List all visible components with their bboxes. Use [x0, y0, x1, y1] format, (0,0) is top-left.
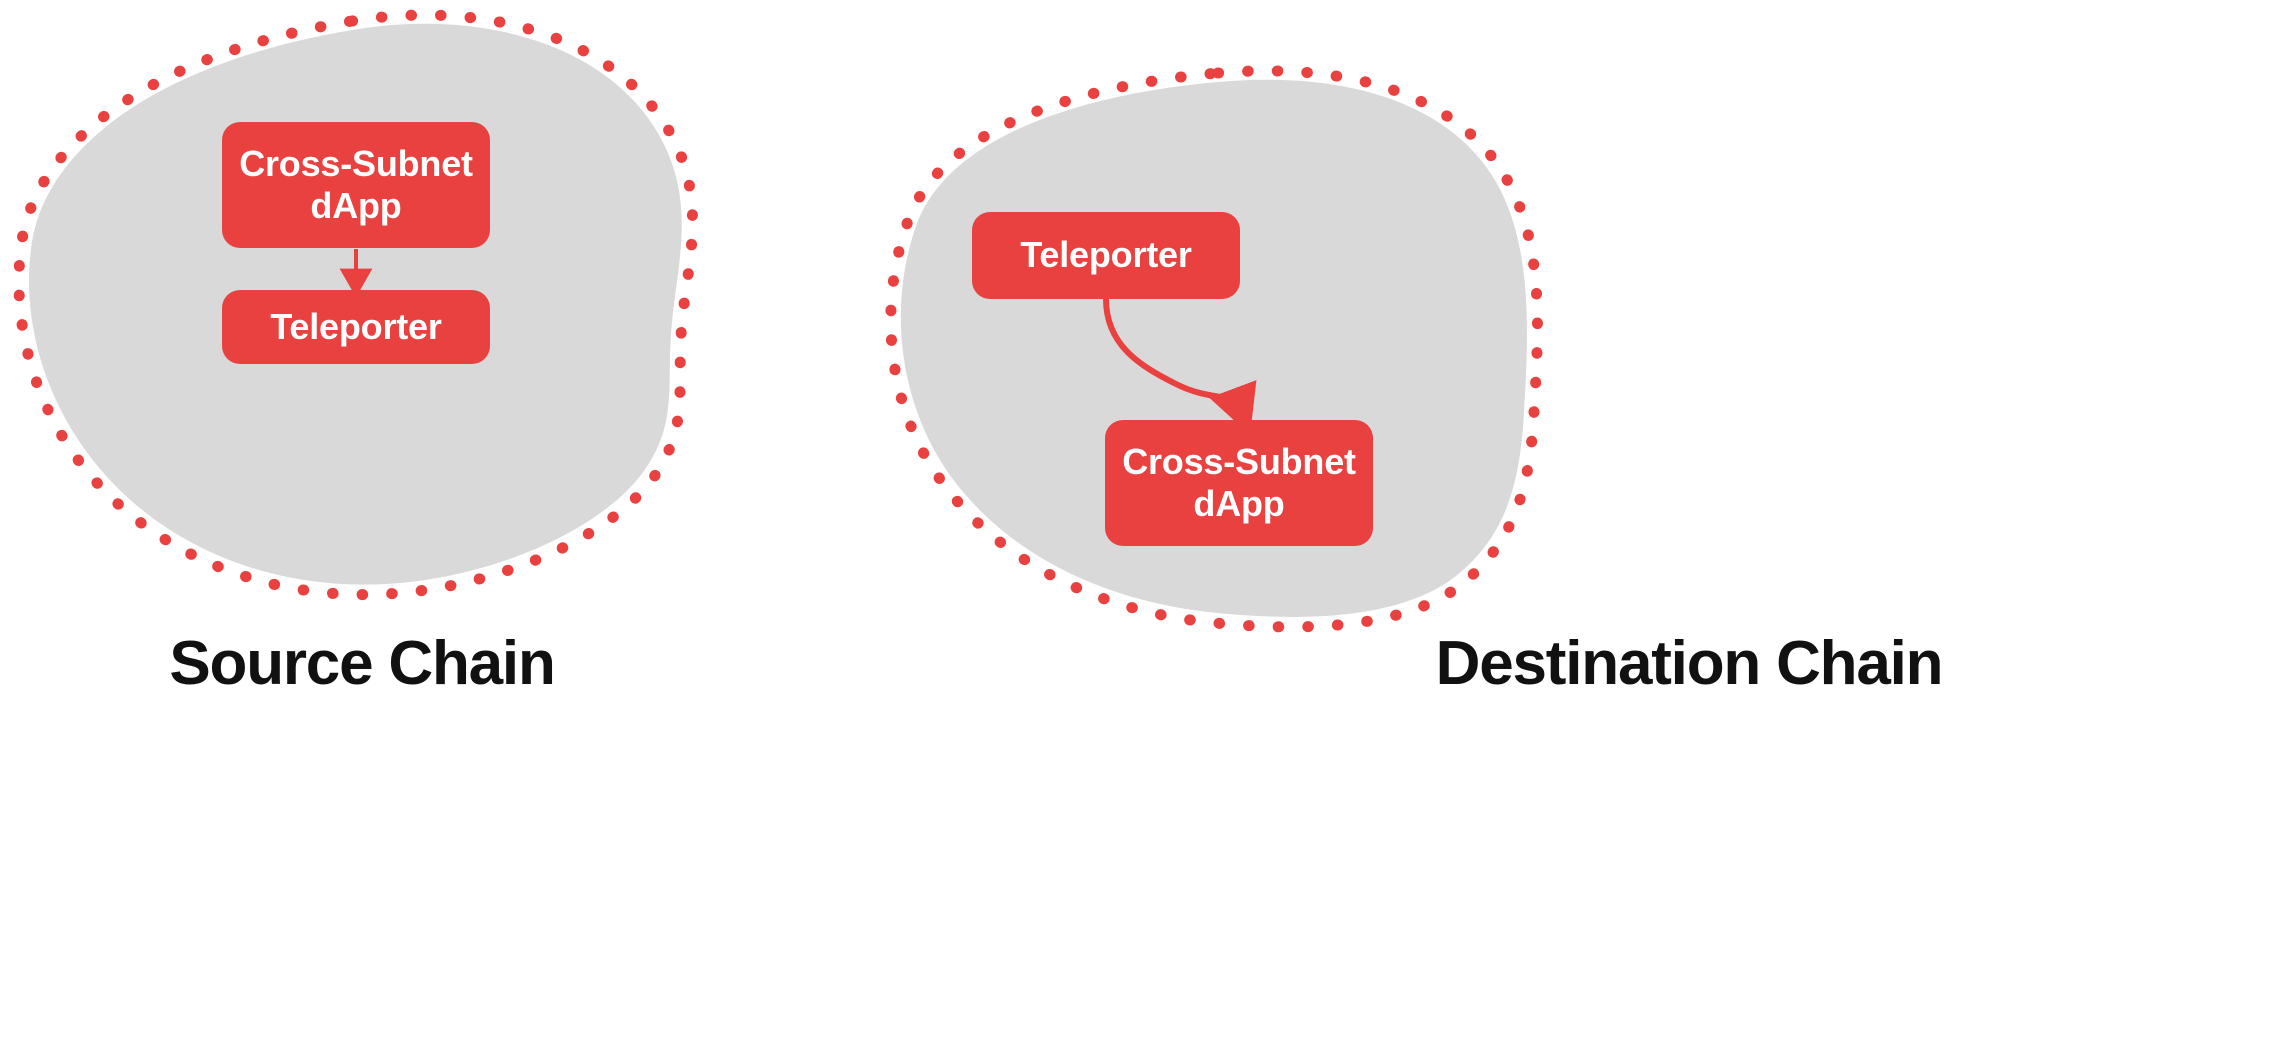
node-destination-teleporter[interactable]: Teleporter: [972, 212, 1240, 299]
destination-chain-caption: Destination Chain: [1086, 628, 2292, 699]
diagram-canvas: Cross-Subnet dApp Teleporter Teleporter …: [0, 0, 2292, 1054]
node-source-teleporter[interactable]: Teleporter: [222, 290, 490, 364]
node-source-cross-subnet-dapp[interactable]: Cross-Subnet dApp: [222, 122, 490, 248]
source-chain-caption: Source Chain: [0, 628, 724, 699]
node-destination-cross-subnet-dapp[interactable]: Cross-Subnet dApp: [1105, 420, 1373, 546]
